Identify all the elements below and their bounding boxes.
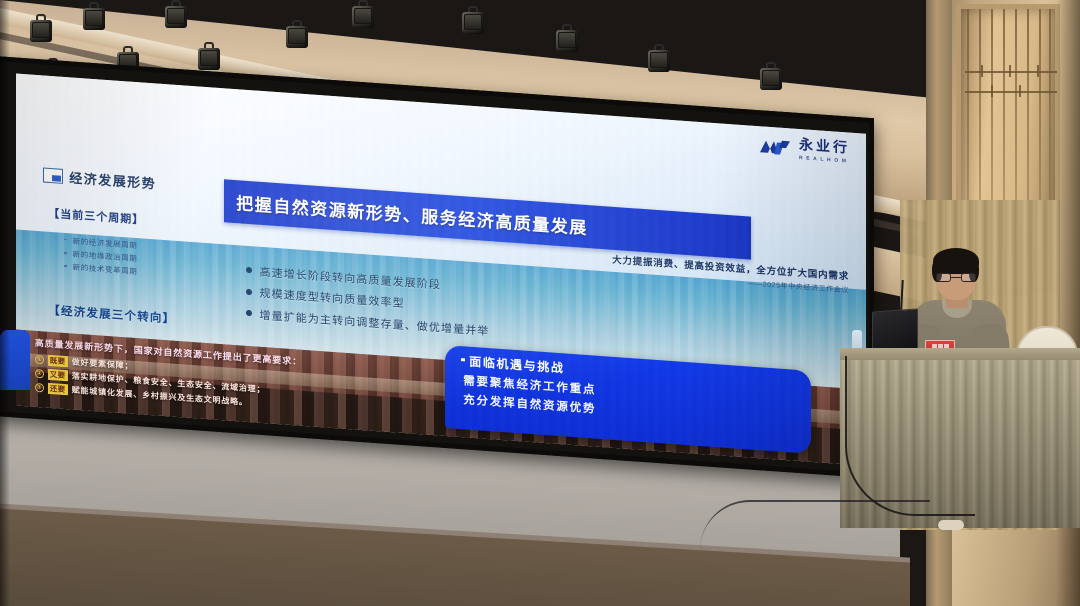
- logo-chinese-name: 永业行: [799, 139, 850, 157]
- stage-light: [648, 44, 670, 74]
- floor-object: [938, 520, 964, 530]
- section-marker-icon: [43, 167, 63, 183]
- stage-light: [352, 0, 374, 30]
- stage-light: [760, 62, 782, 92]
- stage-light: [286, 20, 308, 50]
- list-item: 新的技术变革周期: [64, 261, 138, 277]
- laptop-screen: [872, 308, 918, 353]
- item-number: ③: [35, 383, 44, 393]
- conference-hall-photo: 永业行 REALHOM 把握自然资源新形势、服务经济高质量发展 大力提振消费、提…: [0, 0, 1080, 606]
- item-number: ①: [35, 355, 44, 365]
- item-keyword: 既要: [48, 355, 68, 367]
- cycle-list: 新的经济发展周期 新的地缘政治周期 新的技术变革周期: [64, 235, 138, 280]
- item-number: ②: [35, 369, 44, 379]
- glasses-icon: [936, 273, 976, 282]
- floor-cable: [845, 356, 975, 516]
- stage-light: [462, 6, 484, 36]
- stage-light: [556, 24, 578, 54]
- photo-edge-shadow: [0, 0, 10, 606]
- yh-monogram-icon: [758, 137, 792, 159]
- stage-light: [165, 0, 187, 30]
- item-keyword: 又要: [48, 369, 68, 381]
- floor-cable: [700, 500, 930, 550]
- item-keyword: 还要: [48, 383, 68, 395]
- stage-light: [30, 14, 52, 44]
- stage-light: [198, 42, 220, 72]
- slide-surface: 永业行 REALHOM 把握自然资源新形势、服务经济高质量发展 大力提振消费、提…: [16, 74, 866, 466]
- stage-light: [83, 2, 105, 32]
- led-screen: 永业行 REALHOM 把握自然资源新形势、服务经济高质量发展 大力提振消费、提…: [0, 56, 874, 478]
